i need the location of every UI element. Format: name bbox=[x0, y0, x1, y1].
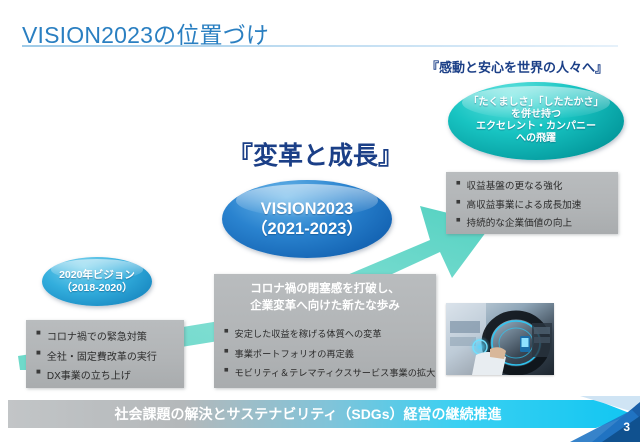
excellent-line-4: への飛躍 bbox=[469, 133, 604, 145]
vision2020-text: 2020年ビジョン （2018-2020） bbox=[59, 269, 135, 295]
list-item-label: 収益基盤の更なる強化 bbox=[467, 178, 563, 192]
world-headline: 『感動と安心を世界の人々へ』 bbox=[426, 57, 608, 76]
right-bullet-list: ■ 収益基盤の更なる強化 ■ 高収益事業による成長加速 ■ 持続的な企業価値の向… bbox=[456, 178, 581, 234]
center-bullet-list: ■ 安定した収益を稼げる体質への変革 ■ 事業ポートフォリオの再定義 ■ モビリ… bbox=[224, 326, 435, 385]
bullet-square-icon: ■ bbox=[456, 178, 461, 187]
list-item: ■ 全社・固定費改革の実行 bbox=[36, 348, 157, 363]
banner-label: 社会課題の解決とサステナビリティ（SDGs）経営の継続推進 bbox=[8, 398, 608, 430]
bullet-square-icon: ■ bbox=[456, 197, 461, 206]
list-item-label: 持続的な企業価値の向上 bbox=[467, 215, 573, 229]
excellent-company-text: 「たくましさ」「したたかさ」 を併せ持つ エクセレント・カンパニー への飛躍 bbox=[469, 97, 604, 146]
left-bullet-list: ■ コロナ禍での緊急対策 ■ 全社・固定費改革の実行 ■ DX事業の立ち上げ bbox=[36, 328, 157, 387]
vision2023-line-2: （2021-2023） bbox=[251, 219, 363, 239]
vision2023-ellipse: VISION2023 （2021-2023） bbox=[222, 180, 392, 258]
slide-canvas: VISION2023の位置づけ 『感動と安心を世界の人々へ』 『変革と成長』 ■… bbox=[0, 0, 640, 442]
steering-wheel-telematics-photo bbox=[446, 303, 554, 375]
vision2020-line-2: （2018-2020） bbox=[59, 282, 135, 295]
center-heading-line-1: コロナ禍の閉塞感を打破し、 bbox=[214, 281, 436, 298]
list-item: ■ 持続的な企業価値の向上 bbox=[456, 215, 581, 229]
list-item-label: 高収益事業による成長加速 bbox=[467, 197, 582, 211]
bullet-square-icon: ■ bbox=[224, 326, 229, 335]
list-item-label: モビリティ＆テレマティクスサービス事業の拡大 bbox=[235, 365, 436, 379]
list-item: ■ DX事業の立ち上げ bbox=[36, 367, 157, 382]
bullet-square-icon: ■ bbox=[224, 346, 229, 355]
bullet-square-icon: ■ bbox=[36, 348, 41, 357]
bullet-square-icon: ■ bbox=[224, 365, 229, 374]
vision2023-text: VISION2023 （2021-2023） bbox=[251, 199, 363, 239]
vision2020-line-1: 2020年ビジョン bbox=[59, 269, 135, 282]
list-item: ■ 高収益事業による成長加速 bbox=[456, 197, 581, 211]
growth-headline: 『変革と成長』 bbox=[228, 136, 403, 172]
center-heading-line-2: 企業変革へ向けた新たな歩み bbox=[214, 298, 436, 315]
excellent-line-1: 「たくましさ」「したたかさ」 bbox=[469, 97, 604, 109]
list-item: ■ 事業ポートフォリオの再定義 bbox=[224, 346, 435, 360]
list-item: ■ モビリティ＆テレマティクスサービス事業の拡大 bbox=[224, 365, 435, 379]
list-item-label: DX事業の立ち上げ bbox=[47, 367, 131, 382]
excellent-line-2: を併せ持つ bbox=[469, 109, 604, 121]
title-divider bbox=[22, 45, 618, 47]
page-number: 3 bbox=[623, 420, 630, 434]
list-item-label: 全社・固定費改革の実行 bbox=[47, 348, 157, 363]
list-item: ■ 安定した収益を稼げる体質への変革 bbox=[224, 326, 435, 340]
center-box-heading: コロナ禍の閉塞感を打破し、 企業変革へ向けた新たな歩み bbox=[214, 281, 436, 316]
bullet-square-icon: ■ bbox=[36, 328, 41, 337]
list-item-label: 事業ポートフォリオの再定義 bbox=[235, 346, 354, 360]
list-item: ■ 収益基盤の更なる強化 bbox=[456, 178, 581, 192]
list-item-label: コロナ禍での緊急対策 bbox=[47, 328, 147, 343]
vision2020-ellipse: 2020年ビジョン （2018-2020） bbox=[42, 257, 152, 306]
vision2023-line-1: VISION2023 bbox=[251, 199, 363, 219]
bullet-square-icon: ■ bbox=[456, 215, 461, 224]
list-item: ■ コロナ禍での緊急対策 bbox=[36, 328, 157, 343]
bullet-square-icon: ■ bbox=[36, 367, 41, 376]
excellent-company-ellipse: 「たくましさ」「したたかさ」 を併せ持つ エクセレント・カンパニー への飛躍 bbox=[448, 82, 624, 160]
excellent-line-3: エクセレント・カンパニー bbox=[469, 121, 604, 133]
list-item-label: 安定した収益を稼げる体質への変革 bbox=[235, 326, 382, 340]
